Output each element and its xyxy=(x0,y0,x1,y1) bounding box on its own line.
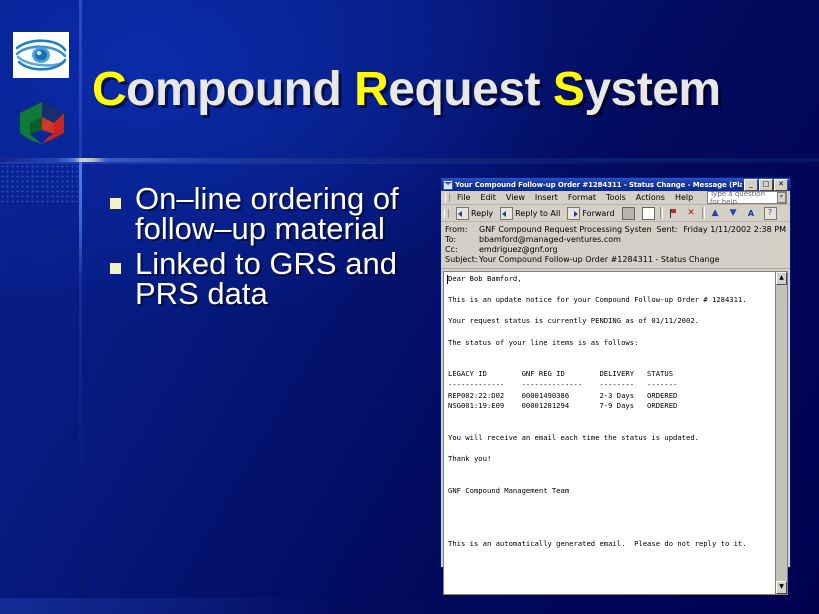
title-word-equest: equest xyxy=(388,63,553,116)
title-word-ompound: ompound xyxy=(126,63,354,116)
print-icon xyxy=(622,207,635,220)
eye-globe-logo xyxy=(13,32,69,78)
subject-value: Your Compound Follow-up Order #1284311 -… xyxy=(479,255,786,265)
menu-bar[interactable]: File Edit View Insert Format Tools Actio… xyxy=(441,191,790,205)
menu-help[interactable]: Help xyxy=(670,193,698,202)
help-search-input[interactable]: Type a question for help ▾ xyxy=(707,191,787,204)
toolbar-separator xyxy=(702,207,705,219)
font-button[interactable]: A xyxy=(744,208,759,219)
menu-actions[interactable]: Actions xyxy=(631,193,670,202)
bullet-list: On–line ordering of follow–up material L… xyxy=(110,184,430,314)
scroll-down-button[interactable]: ▼ xyxy=(776,581,787,594)
reply-button-label: Reply xyxy=(471,209,493,218)
reply-all-button[interactable]: Reply to All xyxy=(498,207,562,220)
scroll-up-button[interactable]: ▲ xyxy=(776,272,787,285)
forward-button[interactable]: Forward xyxy=(565,207,616,220)
hex-cube-logo xyxy=(14,100,70,146)
from-label: From: xyxy=(445,225,479,235)
bullet-item-label: On–line ordering of follow–up material xyxy=(135,184,415,245)
sent-value: Friday 1/11/2002 2:38 PM xyxy=(677,225,786,235)
bullet-square-icon xyxy=(110,198,121,209)
cc-value: emdriguez@gnf.org xyxy=(479,245,786,255)
title-letter-s: S xyxy=(553,63,585,116)
forward-button-label: Forward xyxy=(582,209,614,218)
outlook-message-window[interactable]: Your Compound Follow-up Order #1284311 -… xyxy=(440,177,791,568)
menu-grip-handle[interactable] xyxy=(445,193,450,202)
scrollbar-track[interactable] xyxy=(776,285,787,581)
next-item-button[interactable]: ▼ xyxy=(726,208,741,219)
list-item: Linked to GRS and PRS data xyxy=(110,249,430,310)
chevron-down-icon[interactable]: ▾ xyxy=(777,192,786,203)
help-icon: ? xyxy=(764,207,777,220)
copy-button[interactable] xyxy=(640,207,657,220)
dot-texture-decoration xyxy=(0,164,78,204)
envelope-icon xyxy=(443,180,453,190)
toolbar[interactable]: Reply Reply to All Forward ✕ xyxy=(441,205,790,222)
menu-view[interactable]: View xyxy=(501,193,530,202)
toolbar-grip-handle[interactable] xyxy=(444,209,449,218)
delete-icon: ✕ xyxy=(686,208,697,219)
menu-format[interactable]: Format xyxy=(563,193,601,202)
bullet-item-label: Linked to GRS and PRS data xyxy=(135,249,415,310)
help-search-placeholder: Type a question for help xyxy=(710,190,777,206)
help-button[interactable]: ? xyxy=(762,207,779,220)
text-caret xyxy=(447,275,448,284)
copy-icon xyxy=(642,207,655,220)
bottom-glow-decoration xyxy=(0,598,819,614)
menu-tools[interactable]: Tools xyxy=(601,193,631,202)
vertical-accent-line xyxy=(79,160,82,272)
header-row-from: From: GNF Compound Request Processing Sy… xyxy=(441,225,790,235)
presentation-slide: Compound Request System On–line ordering… xyxy=(0,0,819,614)
previous-item-icon: ▲ xyxy=(710,208,721,219)
bullet-square-icon xyxy=(110,263,121,274)
vertical-scrollbar[interactable]: ▲ ▼ xyxy=(775,272,787,594)
reply-all-button-label: Reply to All xyxy=(515,209,560,218)
reply-icon xyxy=(456,207,469,220)
cc-label: Cc: xyxy=(445,245,479,255)
page-title: Compound Request System xyxy=(92,62,792,117)
menu-edit[interactable]: Edit xyxy=(475,193,501,202)
forward-icon xyxy=(567,207,580,220)
to-value: bbamford@managed-ventures.com xyxy=(479,235,786,245)
flag-icon xyxy=(668,208,679,219)
message-headers: From: GNF Compound Request Processing Sy… xyxy=(441,222,790,269)
reply-all-icon xyxy=(500,207,513,220)
reply-button[interactable]: Reply xyxy=(454,207,495,220)
font-icon: A xyxy=(746,208,757,219)
title-letter-r: R xyxy=(354,63,388,116)
delete-button[interactable]: ✕ xyxy=(684,208,699,219)
flag-button[interactable] xyxy=(666,208,681,219)
list-item: On–line ordering of follow–up material xyxy=(110,184,430,245)
next-item-icon: ▼ xyxy=(728,208,739,219)
previous-item-button[interactable]: ▲ xyxy=(708,208,723,219)
message-body-text[interactable]: Dear Bob Bamford, This is an update noti… xyxy=(444,272,775,594)
title-word-ystem: ystem xyxy=(584,63,720,116)
header-row-cc: Cc: emdriguez@gnf.org xyxy=(441,245,790,255)
toolbar-separator xyxy=(660,207,663,219)
window-title: Your Compound Follow-up Order #1284311 -… xyxy=(455,181,742,189)
horizontal-divider-shadow xyxy=(0,162,819,164)
title-letter-c: C xyxy=(92,63,126,116)
header-row-subject: Subject: Your Compound Follow-up Order #… xyxy=(441,255,790,265)
subject-label: Subject: xyxy=(445,255,479,265)
from-value: GNF Compound Request Processing System [… xyxy=(479,225,651,235)
header-row-to: To: bbamford@managed-ventures.com xyxy=(441,235,790,245)
vertical-divider-line xyxy=(79,0,82,614)
menu-insert[interactable]: Insert xyxy=(530,193,563,202)
sent-label: Sent: xyxy=(651,225,678,235)
message-body-area[interactable]: Dear Bob Bamford, This is an update noti… xyxy=(443,271,788,595)
to-label: To: xyxy=(445,235,479,245)
print-button[interactable] xyxy=(620,207,637,220)
menu-file[interactable]: File xyxy=(452,193,475,202)
